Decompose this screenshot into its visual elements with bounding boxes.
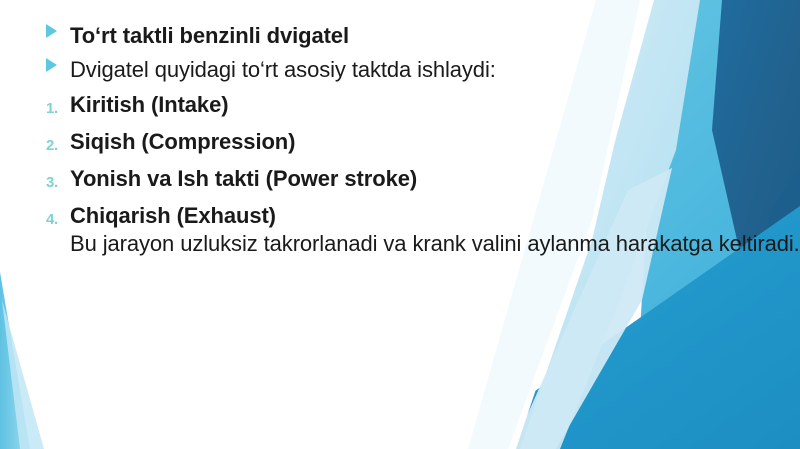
step-label-intake: Kiritish (Intake) xyxy=(70,91,228,119)
list-number: 2. xyxy=(44,130,58,153)
list-number: 4. xyxy=(44,204,58,227)
step-label-compression: Siqish (Compression) xyxy=(70,128,295,156)
list-number-marker: 4. xyxy=(44,202,70,227)
bullet-text-intro: Dvigatel quyidagi to‘rt asosiy taktda is… xyxy=(70,56,496,84)
step-label-power-stroke: Yonish va Ish takti (Power stroke) xyxy=(70,165,417,193)
step-4-block: Chiqarish (Exhaust) Bu jarayon uzluksiz … xyxy=(70,202,800,259)
bullet-item: Dvigatel quyidagi to‘rt asosiy taktda is… xyxy=(44,56,800,84)
list-number-marker: 1. xyxy=(44,91,70,116)
slide-body: To‘rt taktli benzinli dvigatel Dvigatel … xyxy=(0,0,800,259)
bullet-text-title: To‘rt taktli benzinli dvigatel xyxy=(70,22,349,50)
shape-left-blue-wedge-soft xyxy=(2,300,44,449)
list-number: 3. xyxy=(44,167,58,190)
list-number-marker: 3. xyxy=(44,165,70,190)
numbered-item-1: 1. Kiritish (Intake) xyxy=(44,91,800,119)
list-number-marker: 2. xyxy=(44,128,70,153)
bullet-marker xyxy=(44,22,70,38)
bullet-item: To‘rt taktli benzinli dvigatel xyxy=(44,22,800,50)
closing-paragraph: Bu jarayon uzluksiz takrorlanadi va kran… xyxy=(70,230,800,259)
numbered-item-3: 3. Yonish va Ish takti (Power stroke) xyxy=(44,165,800,193)
numbered-item-4: 4. Chiqarish (Exhaust) Bu jarayon uzluks… xyxy=(44,202,800,259)
slide: To‘rt taktli benzinli dvigatel Dvigatel … xyxy=(0,0,800,449)
step-label-exhaust: Chiqarish (Exhaust) xyxy=(70,203,276,228)
triangle-bullet-icon xyxy=(46,24,57,38)
list-number: 1. xyxy=(44,93,58,116)
triangle-bullet-icon xyxy=(46,58,57,72)
shape-left-blue-wedge xyxy=(0,272,30,449)
bullet-marker xyxy=(44,56,70,72)
numbered-item-2: 2. Siqish (Compression) xyxy=(44,128,800,156)
